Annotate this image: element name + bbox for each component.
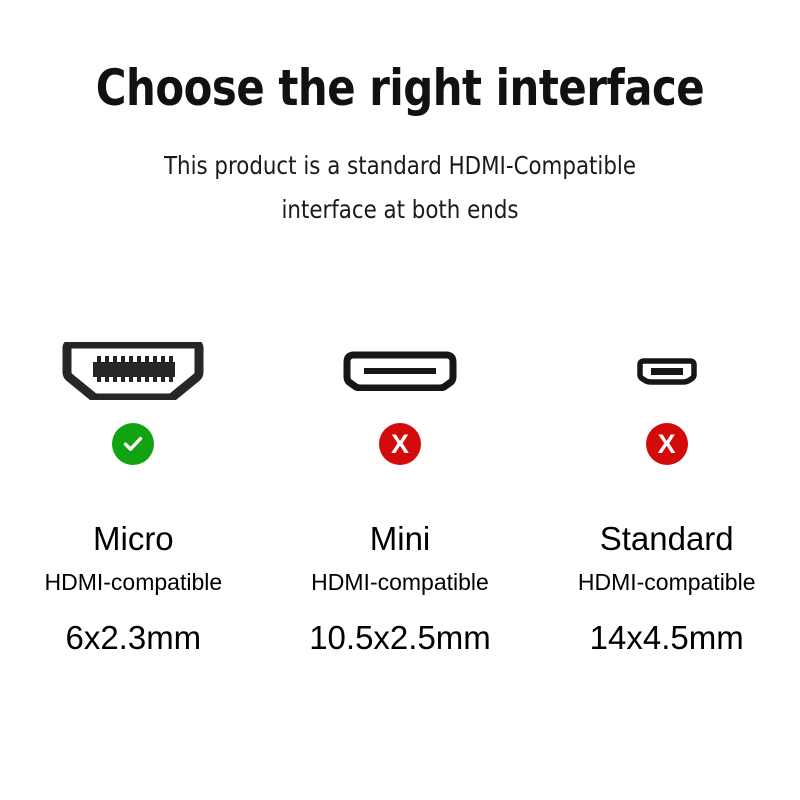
- subtitle-line-2: interface at both ends: [20, 188, 780, 232]
- connector-compatibility: HDMI-compatible: [533, 568, 800, 596]
- badge-slot: X: [646, 412, 688, 476]
- status-badge-supported: [112, 423, 154, 465]
- connector-compatibility: HDMI-compatible: [267, 568, 534, 596]
- connector-column-mini: X Mini HDMI-compatible 10.5x2.5mm: [267, 330, 534, 657]
- connector-name: Standard: [533, 520, 800, 558]
- product-info-graphic: Choose the right interface This product …: [0, 0, 800, 800]
- cross-icon: X: [658, 431, 676, 458]
- connector-name: Mini: [267, 520, 534, 558]
- badge-slot: X: [379, 412, 421, 476]
- connector-compatibility: HDMI-compatible: [0, 568, 267, 596]
- connector-comparison: Micro HDMI-compatible 6x2.3mm X Mini HDM…: [0, 330, 800, 657]
- check-icon: [121, 432, 145, 456]
- port-slot: [342, 330, 458, 412]
- page-subtitle: This product is a standard HDMI-Compatib…: [20, 144, 780, 232]
- connector-labels: Standard HDMI-compatible 14x4.5mm: [533, 520, 800, 657]
- badge-slot: [112, 412, 154, 476]
- status-badge-not-supported: X: [646, 423, 688, 465]
- port-slot: [636, 330, 698, 412]
- connector-column-micro: Micro HDMI-compatible 6x2.3mm: [0, 330, 267, 657]
- hdmi-port-small-icon: [636, 357, 698, 385]
- cross-icon: X: [391, 431, 409, 458]
- port-slot: [59, 330, 207, 412]
- page-title: Choose the right interface: [28, 58, 772, 118]
- status-badge-not-supported: X: [379, 423, 421, 465]
- connector-size: 10.5x2.5mm: [267, 619, 534, 657]
- connector-labels: Micro HDMI-compatible 6x2.3mm: [0, 520, 267, 657]
- connector-size: 6x2.3mm: [0, 619, 267, 657]
- connector-size: 14x4.5mm: [533, 619, 800, 657]
- hdmi-port-medium-icon: [342, 351, 458, 391]
- subtitle-line-1: This product is a standard HDMI-Compatib…: [20, 144, 780, 188]
- hdmi-port-large-icon: [59, 342, 207, 400]
- connector-column-standard: X Standard HDMI-compatible 14x4.5mm: [533, 330, 800, 657]
- connector-name: Micro: [0, 520, 267, 558]
- connector-labels: Mini HDMI-compatible 10.5x2.5mm: [267, 520, 534, 657]
- header: Choose the right interface This product …: [0, 0, 800, 232]
